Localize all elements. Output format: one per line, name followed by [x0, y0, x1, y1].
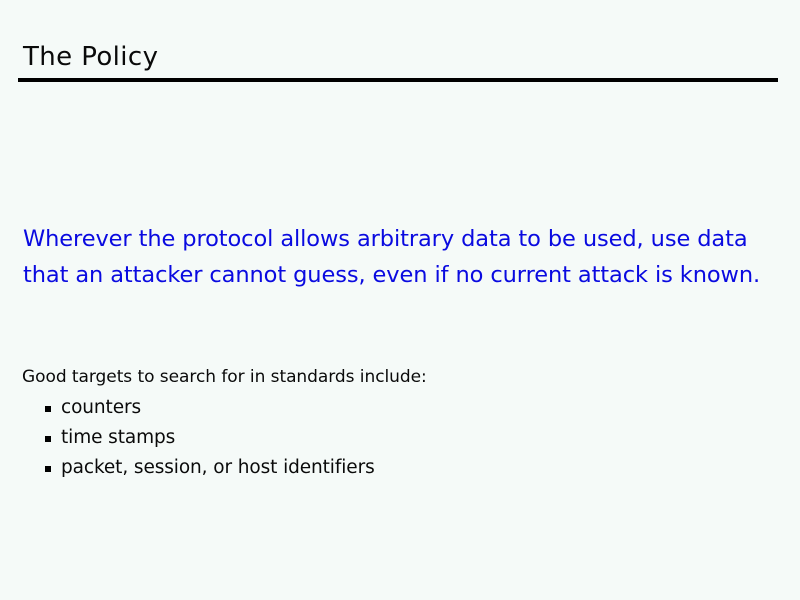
targets-lead-in-text: Good targets to search for in standards …	[22, 366, 427, 388]
list-item: packet, session, or host identifiers	[45, 453, 375, 483]
square-bullet-icon	[45, 406, 51, 412]
policy-statement-line-1: Wherever the protocol allows arbitrary d…	[23, 221, 775, 257]
list-item: counters	[45, 393, 375, 423]
policy-statement: Wherever the protocol allows arbitrary d…	[23, 221, 775, 293]
policy-statement-line-2: that an attacker cannot guess, even if n…	[23, 257, 775, 293]
page-title: The Policy	[23, 41, 158, 73]
list-item-label: time stamps	[61, 423, 175, 453]
list-item-label: packet, session, or host identifiers	[61, 453, 375, 483]
list-item-label: counters	[61, 393, 141, 423]
square-bullet-icon	[45, 436, 51, 442]
presentation-slide: The Policy Wherever the protocol allows …	[0, 0, 800, 600]
list-item: time stamps	[45, 423, 375, 453]
targets-bullet-list: counters time stamps packet, session, or…	[45, 393, 375, 483]
square-bullet-icon	[45, 466, 51, 472]
title-divider-rule	[18, 78, 778, 82]
